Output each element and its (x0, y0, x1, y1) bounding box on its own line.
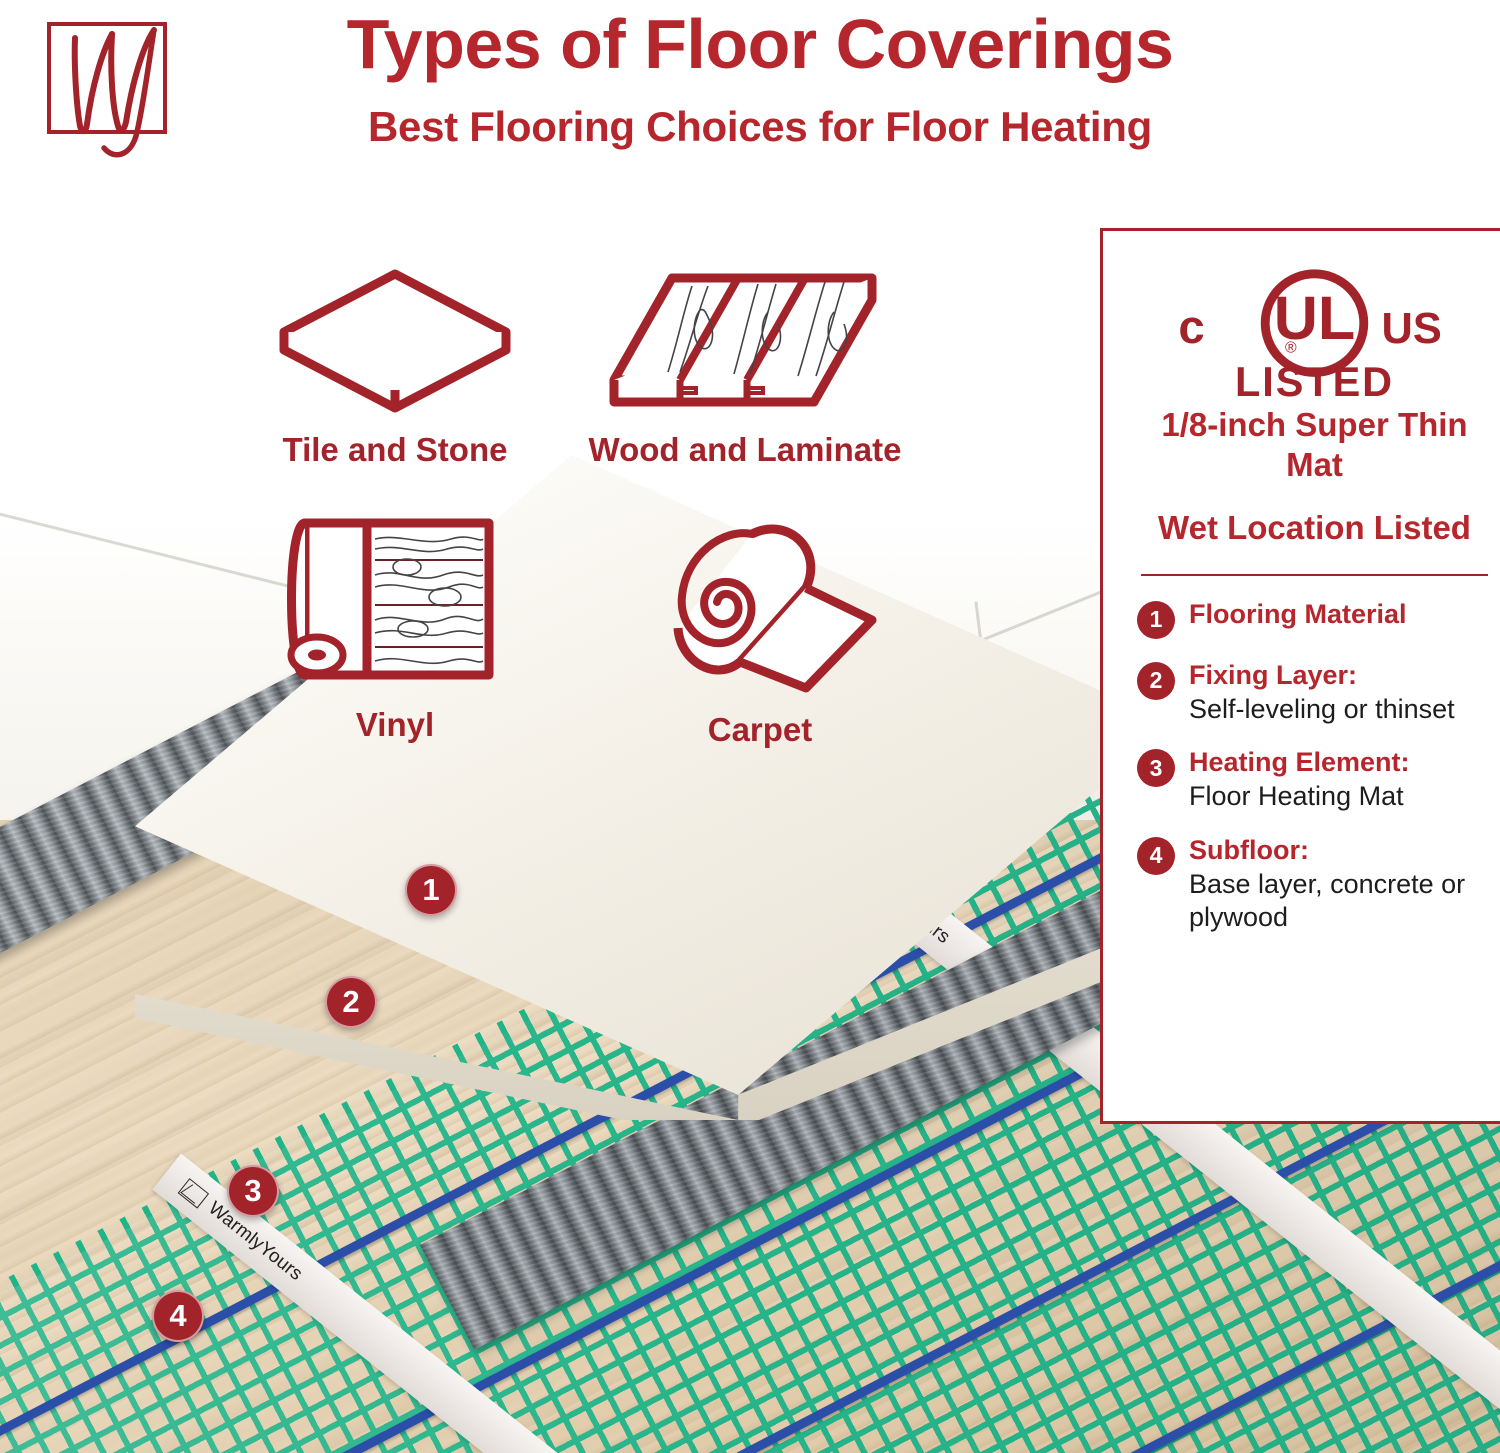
legend-subtitle: Base layer, concrete or plywood (1189, 869, 1465, 933)
legend-text: Subfloor: Base layer, concrete or plywoo… (1189, 834, 1492, 935)
page-subtitle: Best Flooring Choices for Floor Heating (230, 103, 1290, 151)
page-title: Types of Floor Coverings (230, 8, 1290, 82)
callout-badge-3: 3 (227, 1165, 279, 1217)
ul-mark-icon: c UL ® US LISTED (1137, 265, 1492, 405)
legend-text: Flooring Material (1189, 598, 1407, 632)
legend-title: Heating Element: (1189, 747, 1410, 777)
infographic-canvas: WarmlyYours WarmlyYours WarmlyYours (0, 0, 1500, 1453)
registered-mark: ® (1285, 340, 1297, 357)
tile-slab-icon (270, 260, 520, 420)
panel-divider (1141, 574, 1488, 576)
callout-number: 2 (342, 984, 359, 1020)
legend-item-4: 4 Subfloor: Base layer, concrete or plyw… (1137, 834, 1492, 935)
callout-number: 3 (244, 1173, 261, 1209)
legend-item-1: 1 Flooring Material (1137, 598, 1492, 639)
warmlyyours-logo-icon (178, 1178, 209, 1208)
ul-listed-logo: c UL ® US LISTED (1137, 265, 1492, 405)
legend-item-2: 2 Fixing Layer: Self-leveling or thinset (1137, 659, 1492, 727)
legend-title: Flooring Material (1189, 599, 1407, 629)
ul-c-letter: c (1178, 301, 1204, 354)
flooring-type-label: Carpet (610, 711, 910, 749)
vinyl-roll-icon (275, 505, 515, 695)
panel-headline-thin-mat: 1/8-inch Super Thin Mat (1137, 405, 1492, 486)
flooring-type-tile-and-stone: Tile and Stone (230, 260, 560, 469)
legend-title: Fixing Layer: (1189, 660, 1357, 690)
flooring-types-group: Tile and Stone (230, 260, 930, 780)
legend-badge: 1 (1137, 601, 1175, 639)
legend-subtitle: Floor Heating Mat (1189, 781, 1404, 811)
ul-us-letters: US (1382, 305, 1442, 353)
flooring-type-carpet: Carpet (610, 510, 910, 749)
callout-number: 1 (422, 872, 439, 908)
legend-badge: 4 (1137, 837, 1175, 875)
callout-badge-1: 1 (405, 864, 457, 916)
certification-info-panel: c UL ® US LISTED 1/8-inch Super Thin Mat… (1100, 228, 1500, 1124)
flooring-type-label: Tile and Stone (230, 431, 560, 469)
legend-subtitle: Self-leveling or thinset (1189, 694, 1455, 724)
wood-planks-icon (600, 260, 890, 420)
flooring-type-label: Vinyl (250, 706, 540, 744)
legend-item-3: 3 Heating Element: Floor Heating Mat (1137, 746, 1492, 814)
callout-number: 4 (169, 1298, 186, 1334)
wy-monogram-icon (40, 8, 180, 158)
page-header: Types of Floor Coverings Best Flooring C… (0, 0, 1500, 185)
legend-badge: 3 (1137, 749, 1175, 787)
ul-listed-word: LISTED (1235, 359, 1394, 405)
flooring-type-wood-and-laminate: Wood and Laminate (550, 260, 940, 469)
legend-badge: 2 (1137, 662, 1175, 700)
flooring-type-label: Wood and Laminate (550, 431, 940, 469)
carpet-roll-icon (620, 510, 900, 700)
legend-text: Heating Element: Floor Heating Mat (1189, 746, 1410, 814)
legend-text: Fixing Layer: Self-leveling or thinset (1189, 659, 1455, 727)
flooring-type-vinyl: Vinyl (250, 505, 540, 744)
legend-title: Subfloor: (1189, 835, 1309, 865)
callout-badge-2: 2 (325, 976, 377, 1028)
callout-badge-4: 4 (152, 1290, 204, 1342)
panel-headline-wet-location: Wet Location Listed (1137, 508, 1492, 548)
